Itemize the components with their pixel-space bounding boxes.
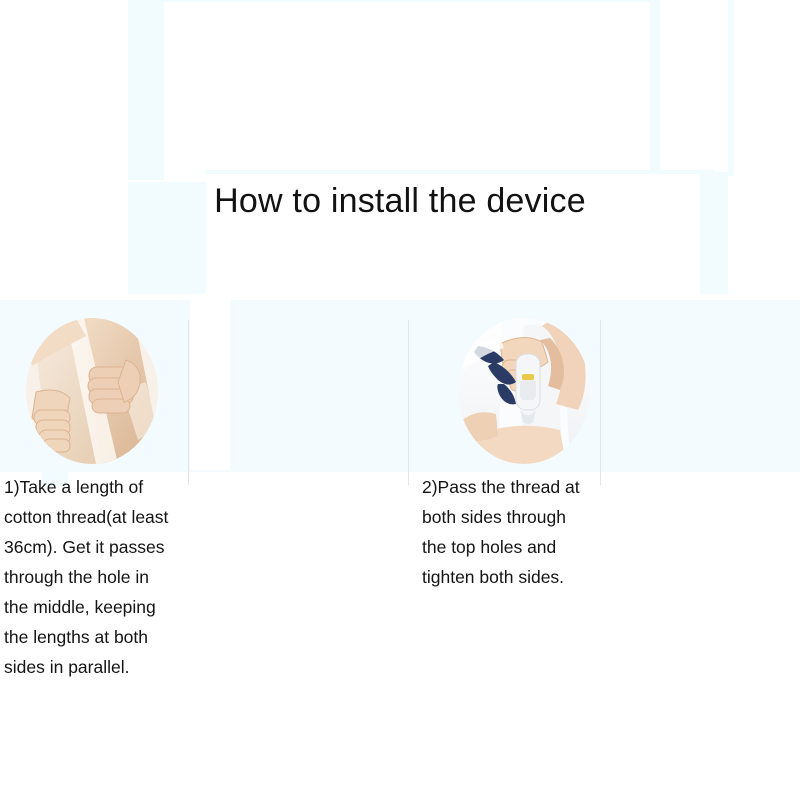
background-band-right-tall xyxy=(650,0,660,172)
steps-container: 1)Take a length of cotton thread(at leas… xyxy=(0,300,800,800)
step-item-2: 2)Pass the thread at both sides through … xyxy=(208,300,404,800)
background-band-top-wide xyxy=(164,0,656,2)
page-title: How to install the device xyxy=(0,182,800,221)
background-band-right-edge xyxy=(728,0,734,176)
step-caption-1: 1)Take a length of cotton thread(at leas… xyxy=(4,472,212,682)
background-band-left-tall xyxy=(128,0,164,180)
background-band-mid-seam xyxy=(205,170,715,174)
step-item-3: 3)Entwine the left thread at the bottom … xyxy=(404,300,598,800)
step-item-4: 4)Entwine the right thread at the bottom… xyxy=(600,300,800,800)
legs-and-hands-photo xyxy=(26,318,158,464)
step-item-1: 1)Take a length of cotton thread(at leas… xyxy=(0,300,200,800)
instruction-infographic: How to install the device xyxy=(0,0,800,800)
